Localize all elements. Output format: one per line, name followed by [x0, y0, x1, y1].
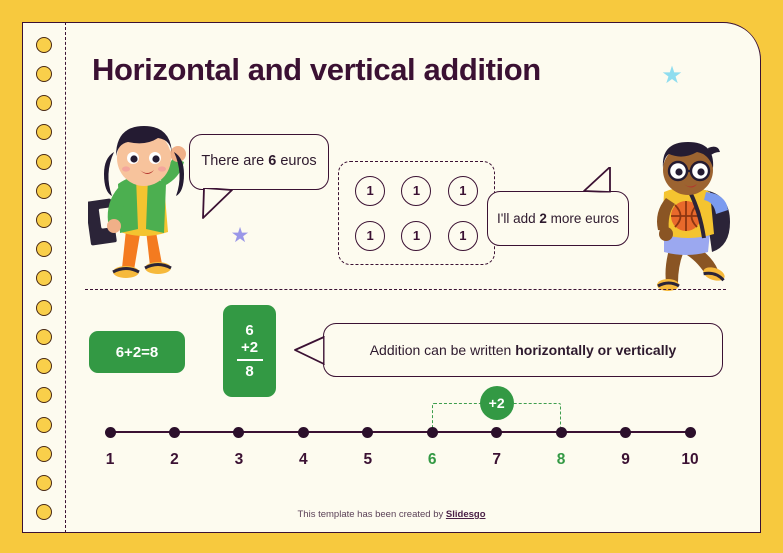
binding-hole	[36, 37, 52, 53]
speech-bubble-ill-add-2-more-euros: I'll add 2 more euros	[487, 191, 629, 246]
binding-hole	[36, 183, 52, 199]
number-line-axis	[110, 431, 690, 433]
vertical-sum: 8	[245, 363, 253, 380]
coin: 1	[401, 176, 431, 206]
star-icon: ★	[230, 226, 250, 246]
binding-hole	[36, 417, 52, 433]
binding-hole	[36, 300, 52, 316]
slidesgo-link[interactable]: Slidesgo	[446, 509, 486, 520]
number-line-label: 10	[666, 451, 714, 469]
speech-bubble-addition-written: Addition can be written horizontally or …	[323, 323, 723, 377]
coins-group: 1 1 1 1 1 1	[338, 161, 495, 265]
number-line-label: 7	[473, 451, 521, 469]
footer-credit: This template has been created by Slides…	[0, 509, 783, 520]
binding-hole	[36, 358, 52, 374]
bubble-tail	[294, 336, 325, 366]
number-line-dot	[169, 427, 180, 438]
page-title: Horizontal and vertical addition	[92, 52, 541, 88]
bubble-2-highlight: 2	[539, 211, 547, 226]
bubble-2-suffix: more euros	[547, 211, 619, 226]
bubble-1-suffix: euros	[276, 153, 316, 169]
number-line-label: 2	[150, 451, 198, 469]
bubble-1-prefix: There are	[201, 153, 268, 169]
number-line-dot	[491, 427, 502, 438]
number-line-dot	[620, 427, 631, 438]
bubble-2-prefix: I'll add	[497, 211, 539, 226]
footer-prefix: This template has been created by	[298, 509, 446, 520]
horizontal-addition-box: 6+2=8	[89, 331, 185, 373]
number-line-dot	[685, 427, 696, 438]
number-line-dot	[427, 427, 438, 438]
binding-hole	[36, 95, 52, 111]
number-line: +2 12345678910	[110, 425, 690, 483]
binding-hole	[36, 212, 52, 228]
section-divider	[85, 289, 726, 290]
number-line-label: 4	[279, 451, 327, 469]
boy-character-illustration	[638, 142, 742, 294]
number-line-label: 3	[215, 451, 263, 469]
number-line-dot	[105, 427, 116, 438]
number-line-label: 8	[537, 451, 585, 469]
bubble-tail	[580, 167, 612, 193]
number-line-dot	[298, 427, 309, 438]
number-line-label: 6	[408, 451, 456, 469]
binding-hole	[36, 66, 52, 82]
binding-hole	[36, 270, 52, 286]
binding-hole	[36, 241, 52, 257]
vertical-addend-bottom: +2	[241, 339, 258, 356]
number-line-dot	[362, 427, 373, 438]
jump-badge: +2	[480, 386, 514, 420]
vertical-addition-box: 6 +2 8	[223, 305, 276, 397]
number-line-label: 9	[602, 451, 650, 469]
binding-hole	[36, 446, 52, 462]
girl-character-illustration	[88, 122, 196, 280]
coin: 1	[448, 221, 478, 251]
number-line-label: 1	[86, 451, 134, 469]
vertical-addend-top: 6	[245, 322, 253, 339]
binding-hole	[36, 387, 52, 403]
binding-hole	[36, 154, 52, 170]
binding-hole	[36, 475, 52, 491]
binding-hole	[36, 329, 52, 345]
coin: 1	[448, 176, 478, 206]
coin: 1	[401, 221, 431, 251]
number-line-dot	[556, 427, 567, 438]
number-line-label: 5	[344, 451, 392, 469]
vertical-rule	[237, 359, 263, 361]
spiral-binding	[22, 22, 66, 533]
bubble-3-highlight: horizontally or vertically	[515, 342, 676, 358]
star-icon: ★	[661, 65, 683, 87]
coin: 1	[355, 176, 385, 206]
speech-bubble-there-are-6-euros: There are 6 euros	[189, 134, 329, 190]
bubble-tail	[202, 188, 236, 219]
coin: 1	[355, 221, 385, 251]
binding-hole	[36, 124, 52, 140]
bubble-3-prefix: Addition can be written	[370, 342, 516, 358]
number-line-dot	[233, 427, 244, 438]
